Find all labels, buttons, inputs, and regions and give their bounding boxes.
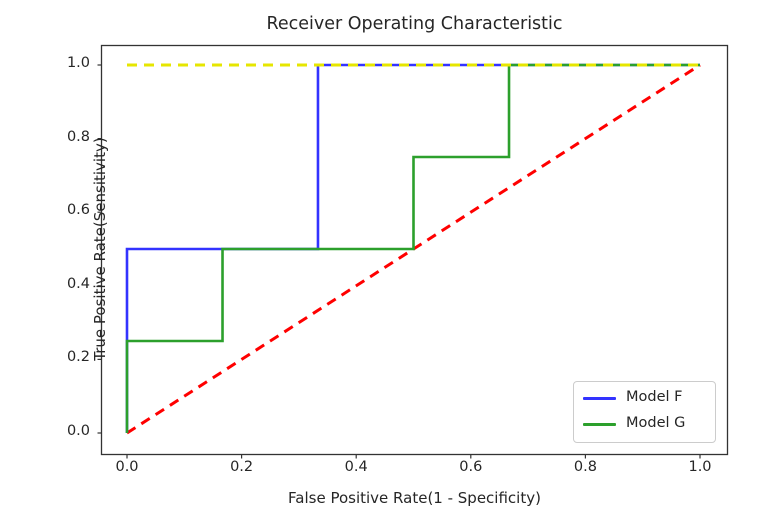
legend-label-model-f: Model F: [626, 389, 683, 405]
x-tick-label-0: 0.0: [105, 459, 149, 475]
y-tick-label-0: 0.0: [38, 423, 90, 439]
legend: Model F Model G: [573, 381, 716, 443]
legend-swatch-model-f: [583, 397, 616, 400]
y-axis-label: True Positive Rate(Sensitivity): [91, 44, 109, 454]
x-axis-label: False Positive Rate(1 - Specificity): [101, 489, 728, 507]
legend-swatch-model-g: [583, 423, 616, 426]
x-tick-label-1: 0.2: [220, 459, 264, 475]
y-tick-label-2: 0.4: [38, 276, 90, 292]
roc-plot-area: [0, 0, 758, 524]
y-tick-label-1: 0.2: [38, 349, 90, 365]
y-tick-label-3: 0.6: [38, 202, 90, 218]
figure-canvas: Receiver Operating Characteristic 0.00.2…: [0, 0, 758, 524]
x-tick-label-2: 0.4: [334, 459, 378, 475]
y-tick-label-4: 0.8: [38, 129, 90, 145]
x-tick-label-3: 0.6: [449, 459, 493, 475]
legend-label-model-g: Model G: [626, 415, 685, 431]
legend-item-model-f: Model F: [574, 388, 717, 410]
y-tick-label-5: 1.0: [38, 55, 90, 71]
x-tick-label-5: 1.0: [678, 459, 722, 475]
legend-item-model-g: Model G: [574, 414, 717, 436]
x-tick-label-4: 0.8: [563, 459, 607, 475]
